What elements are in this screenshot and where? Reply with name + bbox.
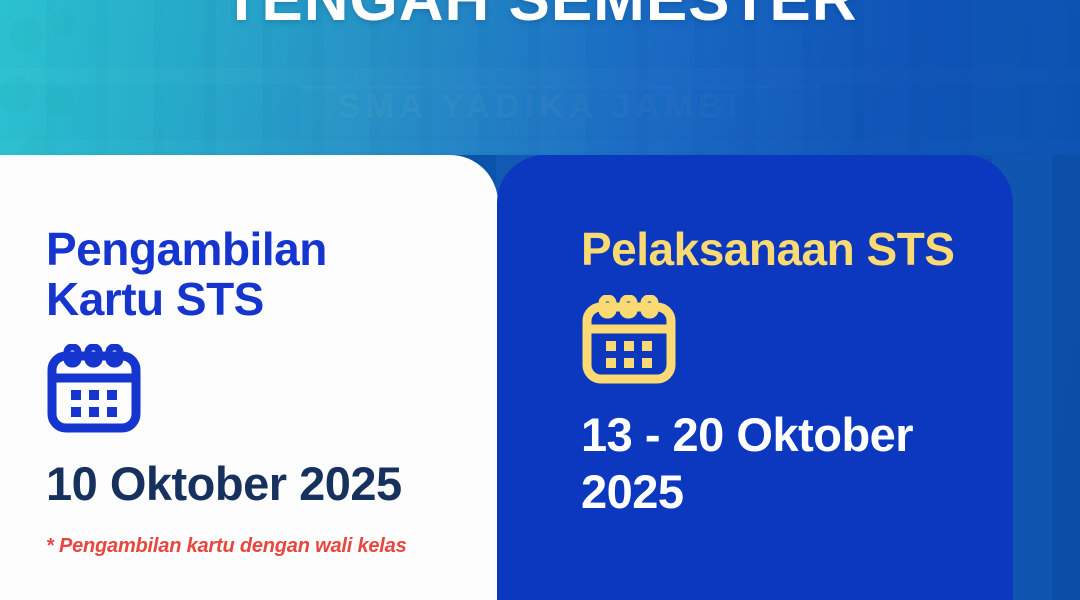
poster-root: SMA YADIKA JAMBI TENGAH SEMESTER Pengamb… <box>0 0 1080 600</box>
card-pelaksanaan: Pelaksanaan STS 13 - 20 Oktober 2025 <box>497 155 1013 600</box>
card-pengambilan-title: Pengambilan Kartu STS <box>46 225 426 324</box>
card-pengambilan: Pengambilan Kartu STS 10 Oktober 2025 <box>0 155 498 600</box>
calendar-icon <box>581 295 993 390</box>
card-pelaksanaan-title: Pelaksanaan STS <box>581 225 961 275</box>
card-pengambilan-date: 10 Oktober 2025 <box>46 455 446 512</box>
cards-container: Pengambilan Kartu STS 10 Oktober 2025 <box>0 155 1080 600</box>
card-pengambilan-note: * Pengambilan kartu dengan wali kelas <box>46 535 468 558</box>
page-title: TENGAH SEMESTER <box>0 0 1080 35</box>
calendar-icon <box>46 344 468 439</box>
card-pelaksanaan-date: 13 - 20 Oktober 2025 <box>581 406 981 521</box>
